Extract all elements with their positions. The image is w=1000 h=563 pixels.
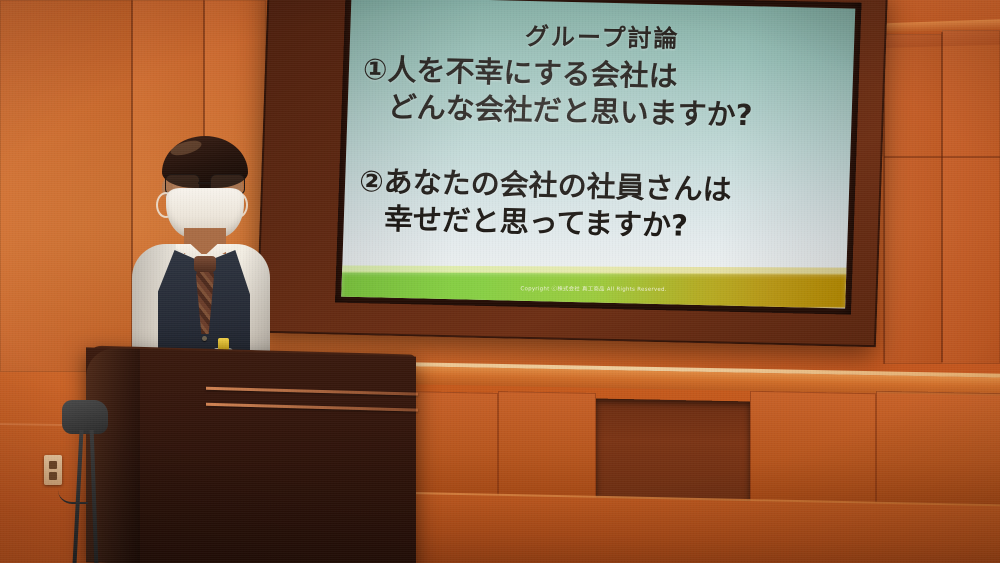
outlet-socket-lower: [49, 472, 57, 480]
lectern-trim-line-lower: [206, 403, 418, 412]
photo-scene: グループ討論 ①人を不幸にする会社は どんな会社だと思いますか? ②あなたの会社…: [0, 0, 1000, 563]
wall-panel-left-a: [0, 0, 132, 372]
slide-question-2: ②あなたの会社の社員さんは 幸せだと思ってますか?: [357, 163, 839, 248]
presentation-slide: グループ討論 ①人を不幸にする会社は どんな会社だと思いますか? ②あなたの会社…: [341, 0, 855, 308]
slide-question-1: ①人を不幸にする会社は どんな会社だと思いますか?: [361, 51, 843, 136]
stand-leg-right: [90, 430, 99, 563]
wall-panel-right-a: [884, 34, 942, 364]
wainscot-panel-1: [410, 391, 498, 505]
wall-seam-6: [884, 156, 1000, 158]
outlet-socket-upper: [49, 461, 57, 469]
wainscot-recessed-panel: [596, 399, 750, 506]
wainscot-panel-2: [498, 391, 596, 505]
slide-title: グループ討論: [350, 14, 855, 57]
wall-panel-right-b: [942, 30, 1000, 364]
stage-floor: [380, 493, 1000, 563]
waistcoat-button-1: [202, 336, 207, 341]
wainscot-panel-4: [876, 391, 1000, 505]
projection-screen-frame: グループ討論 ①人を不幸にする会社は どんな会社だと思いますか? ②あなたの会社…: [256, 0, 888, 347]
stand-head: [62, 400, 108, 434]
wainscot-panel-3: [750, 391, 876, 505]
wall-seam-5: [941, 32, 943, 362]
equipment-stand: [62, 400, 108, 563]
necktie-knot: [194, 256, 216, 272]
glasses-bridge: [198, 182, 210, 184]
lectern: [86, 347, 416, 563]
lectern-trim-line-upper: [206, 387, 418, 396]
stand-leg-left: [72, 430, 83, 563]
slide-content: グループ討論 ①人を不幸にする会社は どんな会社だと思いますか? ②あなたの会社…: [341, 0, 855, 308]
